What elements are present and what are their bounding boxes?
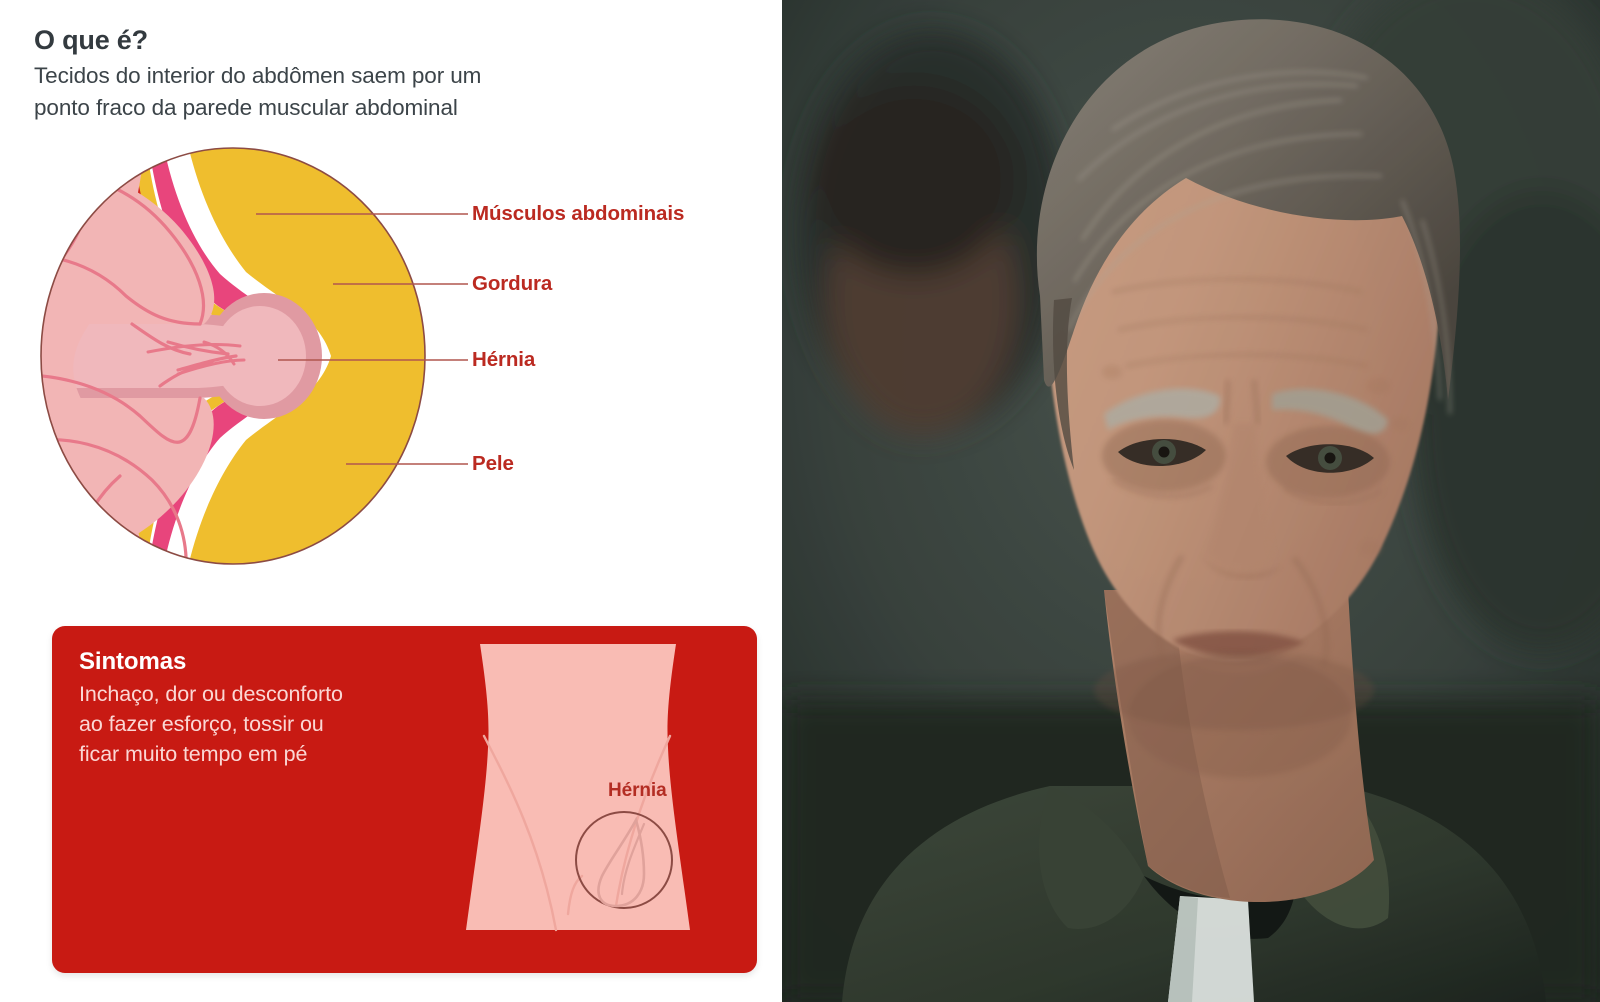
symptoms-text-block: Sintomas Inchaço, dor ou desconforto ao … xyxy=(79,648,429,769)
callout-label-gordura: Gordura xyxy=(472,272,552,296)
hernia-infographic-panel: O que é? Tecidos do interior do abdômen … xyxy=(0,0,782,1002)
page-title: O que é? xyxy=(34,24,754,56)
cross-section-diagram: Músculos abdominais Gordura Hérnia Pele xyxy=(28,146,768,596)
portrait-photo xyxy=(782,0,1600,1002)
header-block: O que é? Tecidos do interior do abdômen … xyxy=(34,24,754,124)
callout-label-hernia: Hérnia xyxy=(472,348,535,372)
callout-label-musculos-abdominais: Músculos abdominais xyxy=(472,202,684,226)
symptoms-line-2: ao fazer esforço, tossir ou xyxy=(79,709,429,739)
subtitle-line-1: Tecidos do interior do abdômen saem por … xyxy=(34,60,754,92)
photo-vignette xyxy=(782,0,1600,1002)
groin-body-illustration xyxy=(418,644,738,954)
diagram-contents xyxy=(28,146,458,586)
symptoms-heading: Sintomas xyxy=(79,648,429,676)
callout-label-pele: Pele xyxy=(472,452,514,476)
symptoms-line-3: ficar muito tempo em pé xyxy=(79,739,429,769)
portrait-photo-panel xyxy=(782,0,1600,1002)
hernia-body-callout-label: Hérnia xyxy=(608,780,667,802)
symptoms-line-1: Inchaço, dor ou desconforto xyxy=(79,679,429,709)
subtitle-line-2: ponto fraco da parede muscular abdominal xyxy=(34,92,754,124)
